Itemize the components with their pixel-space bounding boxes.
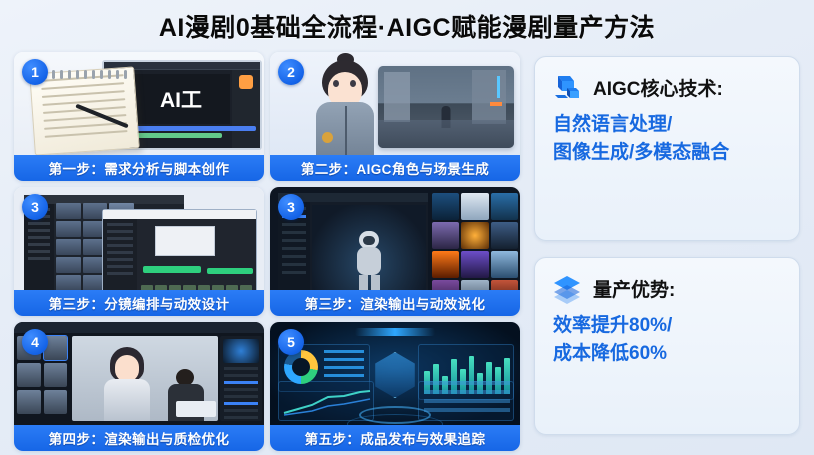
step-card-2[interactable]: 2 第二 (270, 52, 520, 181)
donut-chart (284, 350, 318, 384)
info-line-1: 自然语言处理/ (553, 111, 783, 139)
step-badge-5: 4 (22, 329, 48, 355)
app-titlebar (14, 322, 264, 333)
step-caption-5: 第四步：渲染输出与质检优化 (14, 425, 264, 451)
editor-timeline (134, 126, 256, 140)
info-card-title: AIGC核心技术: (593, 74, 723, 101)
dialog-popup (155, 226, 215, 256)
step-card-1[interactable]: 1 AI工 (14, 52, 264, 181)
image-gallery-grid (432, 193, 518, 290)
info-card-title: 量产优势: (593, 275, 675, 302)
hex-core-graphic (372, 352, 418, 398)
step-badge-2: 2 (278, 59, 304, 85)
info-card-core-tech: AIGC核心技术: 自然语言处理/ 图像生成/多模态融合 (534, 56, 800, 241)
scene-character-city (270, 52, 520, 155)
step-card-3[interactable]: 3 (14, 187, 264, 316)
step-caption-4: 第三步：渲染输出与动效说化 (270, 290, 520, 316)
step-badge-6: 5 (278, 329, 304, 355)
step-card-5[interactable]: 4 (14, 322, 264, 451)
rainy-city-image (378, 66, 514, 148)
info-line-2: 成本降低60% (553, 340, 783, 368)
step-row-3: 4 (14, 322, 520, 451)
info-card-body: 效率提升80%/ 成本降低60% (551, 312, 783, 367)
preview-thumb (223, 339, 259, 363)
step-row-1: 1 AI工 (14, 52, 520, 181)
step-thumbnail-6: 5 (270, 322, 520, 425)
step-thumbnail-5: 4 (14, 322, 264, 425)
step-row-2: 3 (14, 187, 520, 316)
avatar-thumb (239, 75, 253, 89)
step-caption-2: 第二步：AIGC角色与场景生成 (270, 155, 520, 181)
info-panel-column: AIGC核心技术: 自然语言处理/ 图像生成/多模态融合 量产优势: 效 (534, 52, 800, 455)
info-line-1: 效率提升80%/ (553, 312, 783, 340)
page-title: AI漫剧0基础全流程·AIGC赋能漫剧量产方法 (159, 8, 655, 44)
scene-preview-app (14, 322, 264, 425)
step-caption-1: 第一步：需求分析与脚本创作 (14, 155, 264, 181)
step-thumbnail-1: 1 AI工 (14, 52, 264, 155)
render-stage (312, 205, 426, 290)
astronaut-figure (353, 231, 385, 290)
step-badge-4: 3 (278, 194, 304, 220)
scene-data-dashboard (270, 322, 520, 425)
preview-canvas (72, 336, 218, 421)
step-thumbnail-2: 2 (270, 52, 520, 155)
step-thumbnail-3: 3 (14, 187, 264, 290)
scene-storyboard (14, 187, 264, 290)
cube-stack-icon (551, 71, 583, 103)
motion-editor-window (102, 209, 257, 290)
layers-icon (551, 272, 583, 304)
step-card-grid: 1 AI工 (14, 52, 520, 455)
step-caption-3: 第三步：分镜编排与动效设计 (14, 290, 264, 316)
notebook-spiral (36, 66, 136, 72)
header-bar: AI漫剧0基础全流程·AIGC赋能漫剧量产方法 (0, 0, 814, 52)
step-thumbnail-4: 3 (270, 187, 520, 290)
step-badge-1: 1 (22, 59, 48, 85)
status-list (424, 381, 510, 417)
chart-legend (324, 350, 364, 382)
step-card-6[interactable]: 5 (270, 322, 520, 451)
desk-prop (176, 401, 216, 417)
dashboard-title-bar (355, 328, 435, 336)
scene-astronaut-gallery (270, 187, 520, 290)
step-badge-3: 3 (22, 194, 48, 220)
step-card-4[interactable]: 3 (270, 187, 520, 316)
info-line-2: 图像生成/多模态融合 (553, 139, 783, 167)
editor-canvas-text: AI工 (132, 74, 230, 124)
step-caption-6: 第五步：成品发布与效果追踪 (270, 425, 520, 451)
main-layout: 1 AI工 (0, 52, 814, 455)
anime-character (306, 58, 384, 155)
info-card-body: 自然语言处理/ 图像生成/多模态融合 (551, 111, 783, 166)
info-card-header: 量产优势: (551, 272, 783, 304)
scene-notebook-editor: AI工 (14, 52, 264, 155)
female-character (98, 347, 156, 421)
line-chart (282, 387, 372, 417)
inspector-panel (220, 336, 262, 421)
info-card-mass-production: 量产优势: 效率提升80%/ 成本降低60% (534, 257, 800, 435)
info-card-header: AIGC核心技术: (551, 71, 783, 103)
